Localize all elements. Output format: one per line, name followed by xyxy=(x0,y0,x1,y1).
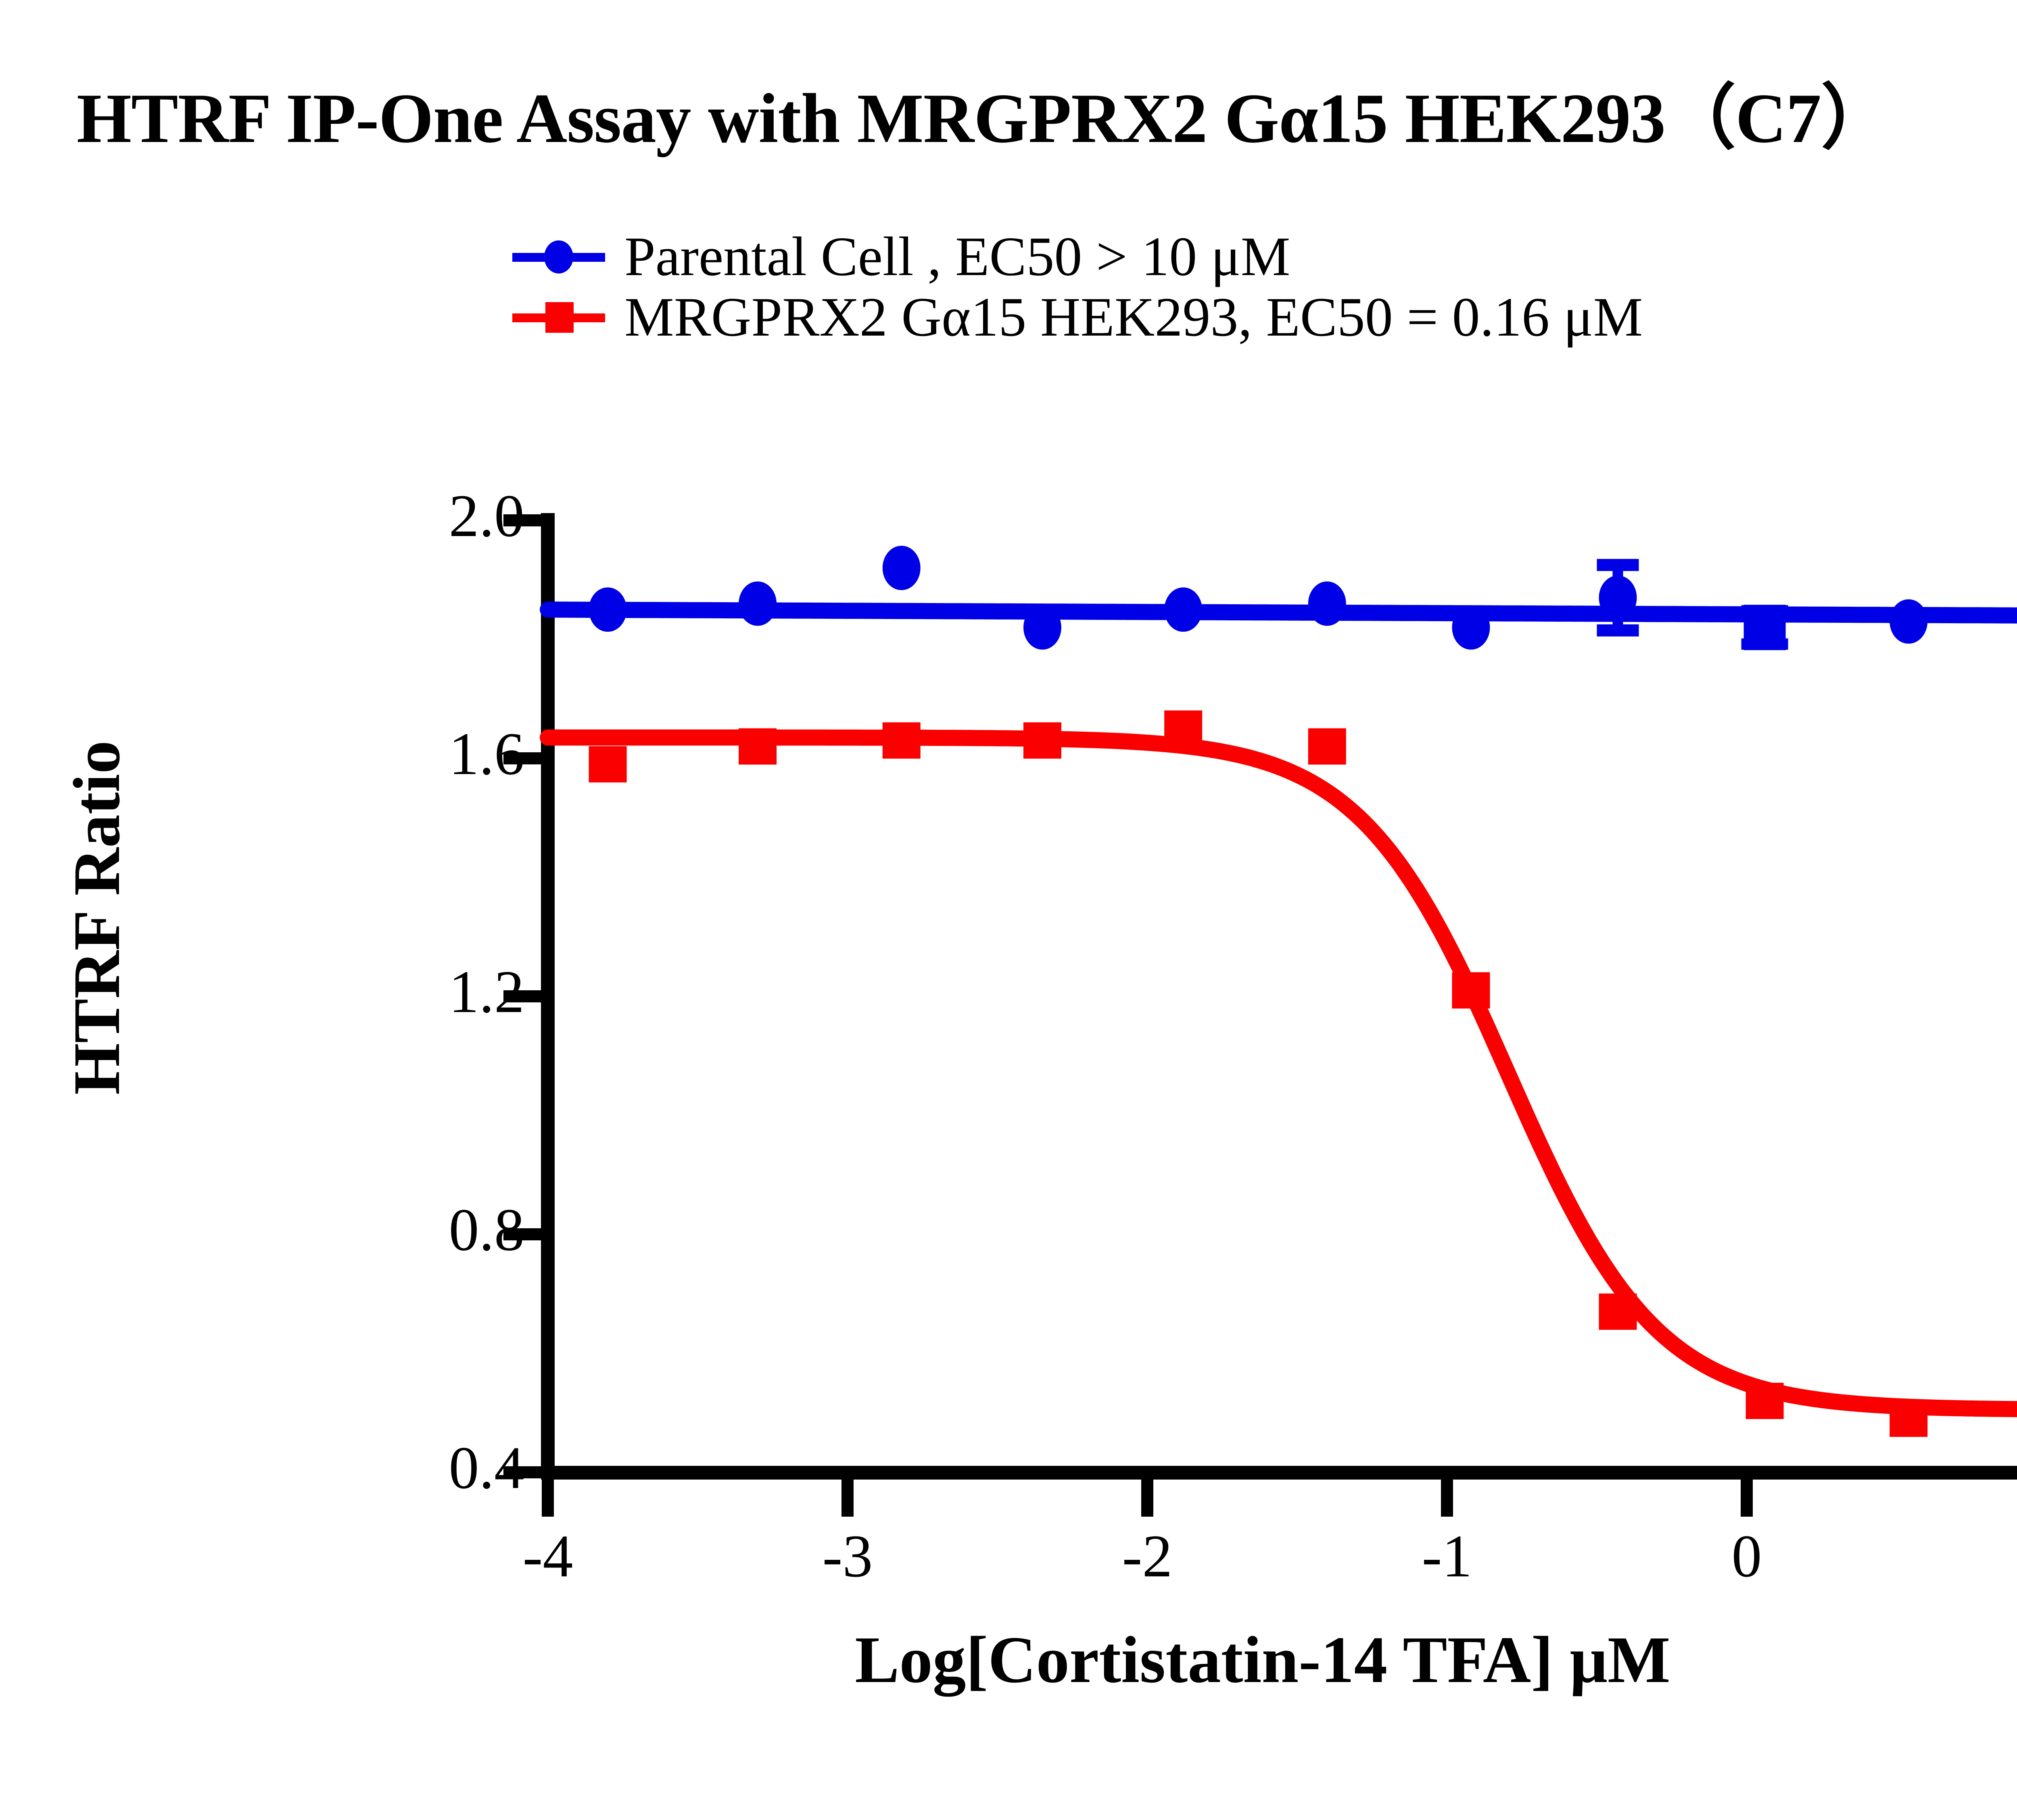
data-point-square xyxy=(1746,1383,1784,1419)
data-point-circle xyxy=(1890,599,1927,644)
data-point-square xyxy=(739,728,777,765)
fit-curve xyxy=(548,737,2017,1409)
series-mrgprx2 xyxy=(548,710,2017,1437)
data-point-square xyxy=(1308,728,1346,765)
axis-lines xyxy=(503,513,2017,1517)
data-point-circle xyxy=(739,582,777,626)
data-point-square xyxy=(1599,1294,1637,1330)
series-layer xyxy=(548,546,2017,1437)
data-point-square xyxy=(883,722,921,759)
data-point-square xyxy=(1890,1400,1927,1437)
data-point-circle xyxy=(1164,587,1202,632)
series-parental xyxy=(548,546,2017,650)
data-point-square xyxy=(589,746,627,783)
data-point-circle xyxy=(1599,576,1637,620)
data-point-square xyxy=(1023,722,1061,759)
data-point-circle xyxy=(883,546,921,590)
data-point-circle xyxy=(1452,605,1490,650)
figure-canvas: HTRF IP-One Assay with MRGPRX2 Gα15 HEK2… xyxy=(0,0,2017,1820)
data-point-circle xyxy=(1308,582,1346,626)
data-point-square xyxy=(1164,710,1202,747)
plot-area xyxy=(0,0,2017,1820)
data-point-circle xyxy=(589,587,627,632)
data-point-circle xyxy=(1023,605,1061,650)
data-point-square xyxy=(1452,972,1490,1008)
